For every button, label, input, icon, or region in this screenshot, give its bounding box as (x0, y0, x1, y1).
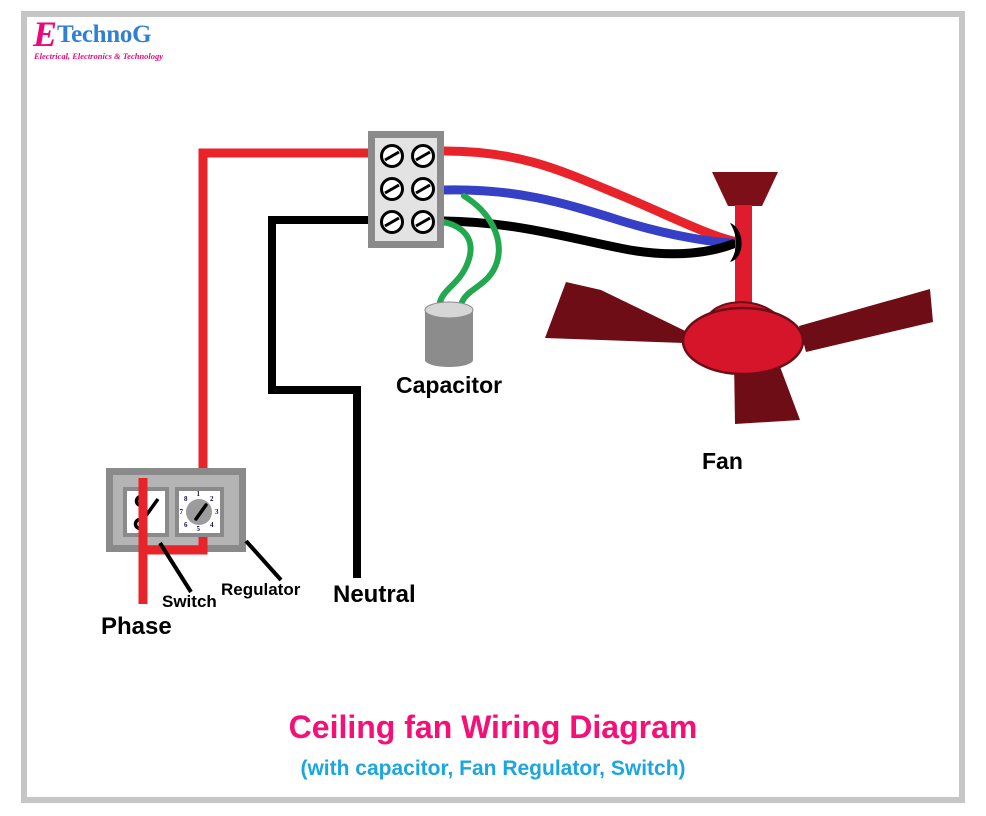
fan-motor-body (683, 308, 803, 374)
dial-number-3: 3 (215, 509, 219, 516)
leader-line-regulator (246, 541, 281, 580)
dial-number-6: 6 (184, 522, 188, 529)
terminal-screw (382, 179, 403, 200)
label-fan: Fan (702, 448, 743, 475)
terminal-screw (413, 179, 434, 200)
wire-neutral-black (272, 220, 372, 578)
switch-regulator-box (106, 468, 246, 552)
diagram-canvas: E TechnoG Electrical, Electronics & Tech… (0, 0, 986, 816)
capacitor-component (425, 302, 473, 367)
capacitor-top (425, 302, 473, 318)
wiring-schematic (0, 0, 986, 816)
terminal-screw (413, 212, 434, 233)
terminal-screw (413, 146, 434, 167)
label-regulator: Regulator (221, 580, 300, 600)
dial-number-8: 8 (184, 496, 188, 503)
terminal-screw (382, 212, 403, 233)
fan-canopy (712, 172, 778, 206)
diagram-title: Ceiling fan Wiring Diagram (0, 709, 986, 746)
fan-blade-right (799, 289, 933, 352)
label-neutral: Neutral (333, 581, 416, 609)
diagram-subtitle: (with capacitor, Fan Regulator, Switch) (0, 757, 986, 781)
dial-number-2: 2 (210, 496, 214, 503)
capacitor-bottom (425, 353, 473, 367)
fan-downrod (735, 205, 752, 315)
dial-number-1: 1 (197, 491, 201, 498)
wire-capacitor-green-2 (462, 196, 499, 302)
wire-capacitor-green-1 (440, 222, 471, 302)
wire-phase-red-upper (203, 153, 372, 487)
label-switch: Switch (162, 592, 217, 612)
dial-number-5: 5 (197, 526, 201, 533)
label-phase: Phase (101, 613, 172, 641)
dial-number-7: 7 (180, 509, 184, 516)
label-capacitor: Capacitor (396, 372, 502, 399)
terminal-screw (382, 146, 403, 167)
dial-number-4: 4 (210, 522, 214, 529)
terminal-block-component (368, 131, 444, 248)
ceiling-fan-component (545, 172, 933, 424)
